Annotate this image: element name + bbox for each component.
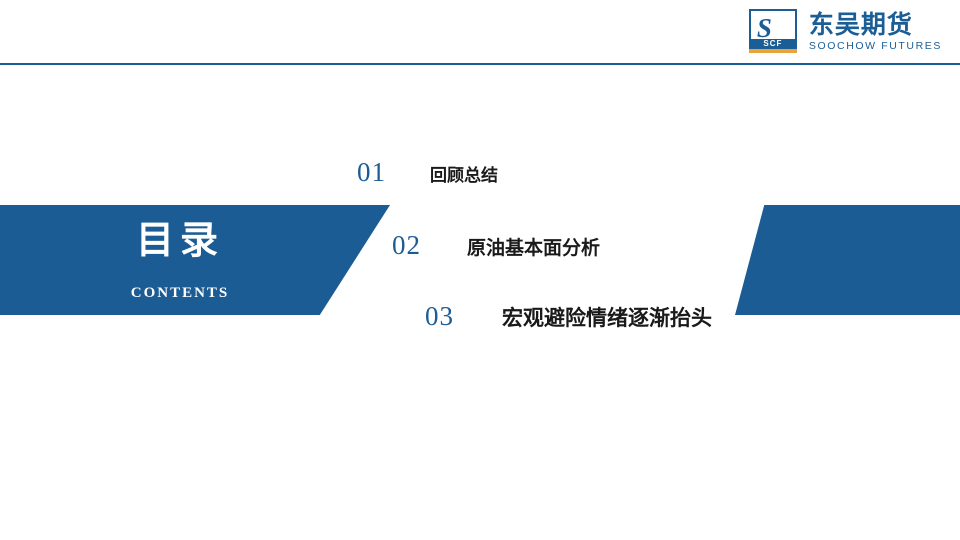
logo-mark-icon: S SCF	[749, 9, 801, 55]
banner-right-shape	[735, 205, 960, 315]
toc-label: 宏观避险情绪逐渐抬头	[502, 302, 712, 332]
banner-title-cn: 目录	[0, 218, 360, 264]
logo-company-name-en: SOOCHOW FUTURES	[809, 39, 942, 53]
toc-entry-03[interactable]: 03 宏观避险情绪逐渐抬头	[425, 301, 712, 332]
toc-entry-02[interactable]: 02 原油基本面分析	[392, 230, 600, 261]
toc-entry-01[interactable]: 01 回顾总结	[357, 157, 498, 188]
banner-title-en: CONTENTS	[0, 285, 360, 302]
logo-company-name-cn: 东吴期货	[809, 12, 942, 39]
toc-number: 01	[357, 157, 386, 188]
logo-scf-text: SCF	[749, 39, 797, 49]
header-divider	[0, 63, 960, 65]
toc-number: 03	[425, 301, 454, 332]
logo-wordmark: 东吴期货 SOOCHOW FUTURES	[809, 12, 942, 53]
company-logo: S SCF 东吴期货 SOOCHOW FUTURES	[749, 8, 942, 56]
logo-accent-bar	[749, 49, 797, 53]
toc-label: 回顾总结	[430, 161, 498, 186]
logo-swoosh-icon: S	[757, 14, 772, 42]
toc-number: 02	[392, 230, 421, 261]
toc-label: 原油基本面分析	[467, 233, 600, 260]
